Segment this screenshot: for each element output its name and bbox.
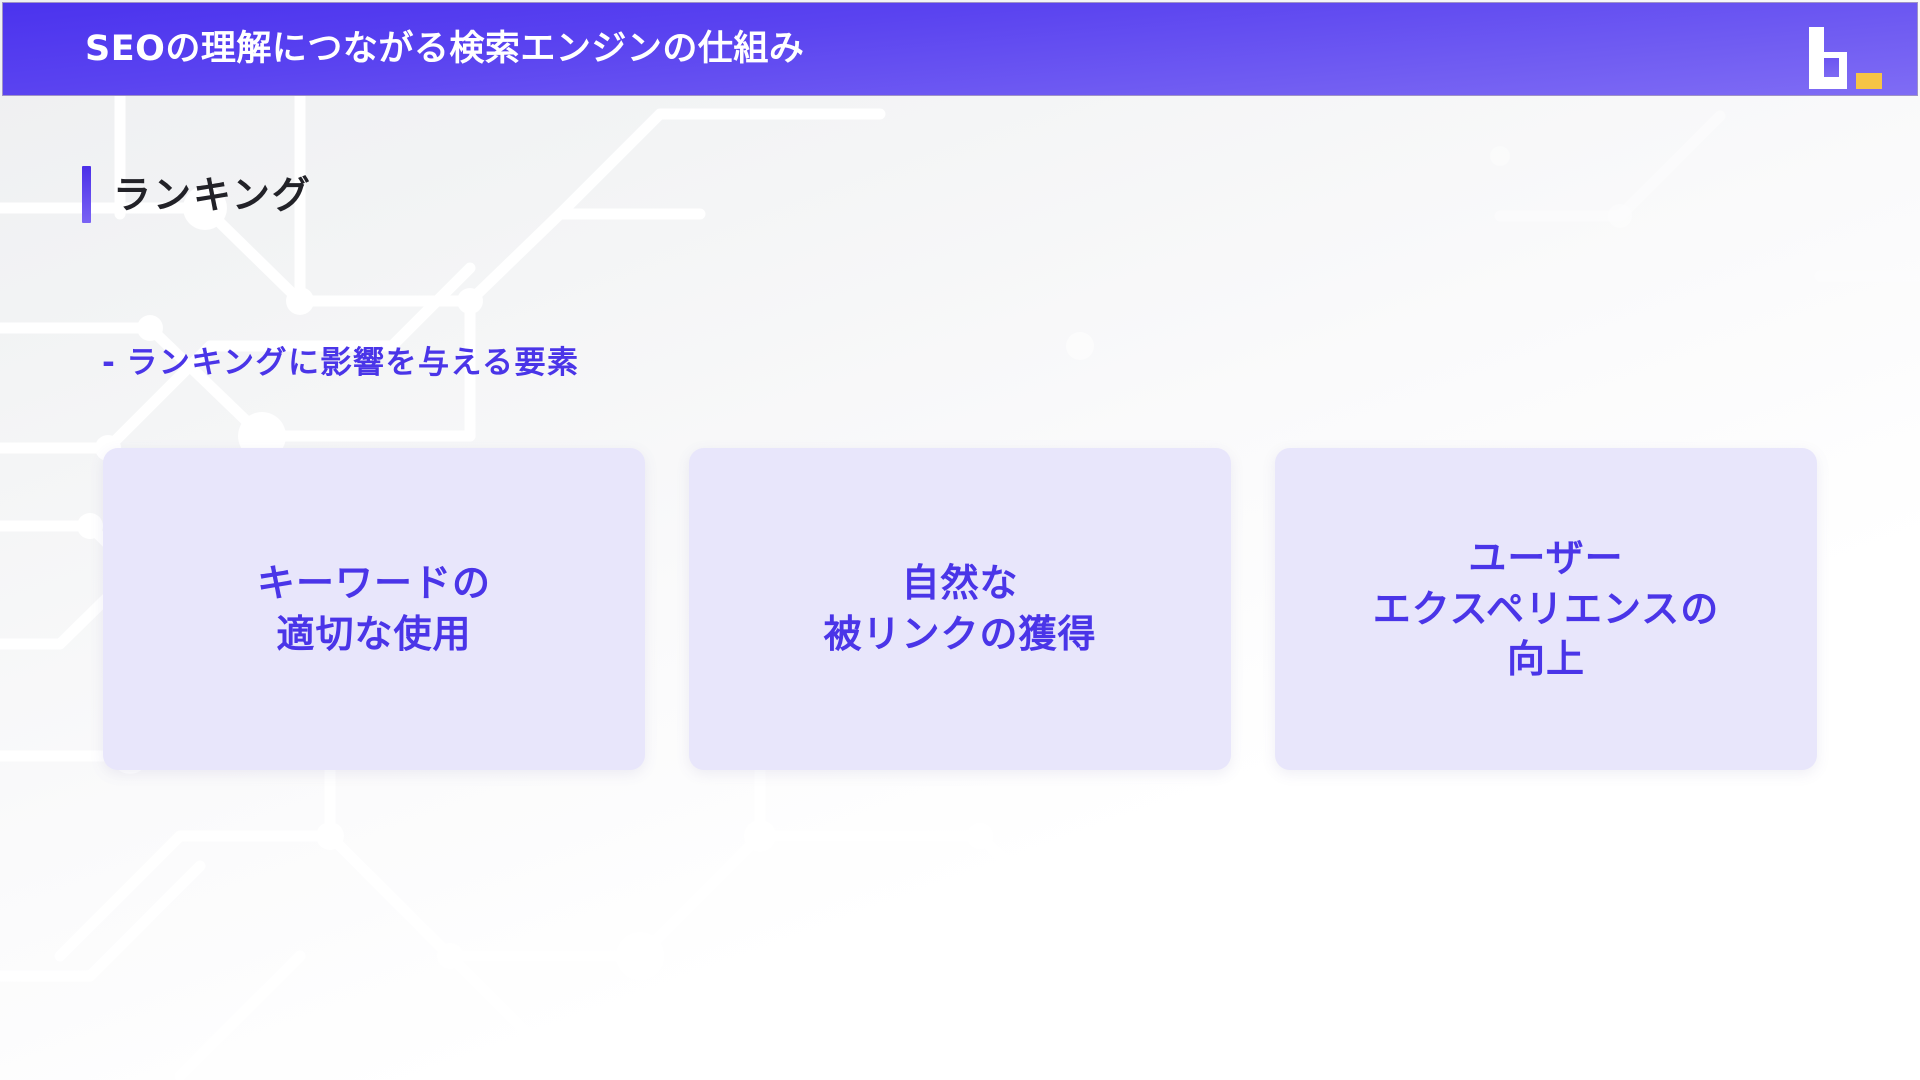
factor-card-label: ユーザー エクスペリエンスの 向上 — [1373, 533, 1719, 685]
sub-heading-label: ランキングに影響を与える要素 — [126, 345, 579, 381]
logo-accent-dash-icon — [1856, 73, 1882, 89]
section-heading: ランキング — [82, 166, 312, 223]
factor-card-user-experience[interactable]: ユーザー エクスペリエンスの 向上 — [1275, 448, 1817, 770]
logo-stem — [1809, 27, 1824, 89]
factor-card-label: キーワードの 適切な使用 — [257, 558, 491, 659]
b-logo-icon — [1809, 27, 1881, 89]
slide-header-bar: SEOの理解につながる検索エンジンの仕組み — [2, 2, 1918, 96]
sub-heading-dash-icon: - — [102, 345, 116, 381]
section-heading-label: ランキング — [113, 176, 312, 214]
section-accent-bar — [82, 166, 91, 223]
factor-card-natural-backlinks[interactable]: 自然な 被リンクの獲得 — [689, 448, 1231, 770]
factor-card-label: 自然な 被リンクの獲得 — [823, 558, 1096, 659]
factor-card-keyword-usage[interactable]: キーワードの 適切な使用 — [103, 448, 645, 770]
factor-card-list: キーワードの 適切な使用 自然な 被リンクの獲得 ユーザー エクスペリエンスの … — [103, 448, 1817, 770]
page-title: SEOの理解につながる検索エンジンの仕組み — [85, 32, 804, 67]
slide-canvas: SEOの理解につながる検索エンジンの仕組み ランキング -ランキングに影響を与え… — [0, 0, 1920, 1080]
sub-heading: -ランキングに影響を与える要素 — [102, 348, 580, 379]
logo-counter — [1824, 58, 1839, 77]
